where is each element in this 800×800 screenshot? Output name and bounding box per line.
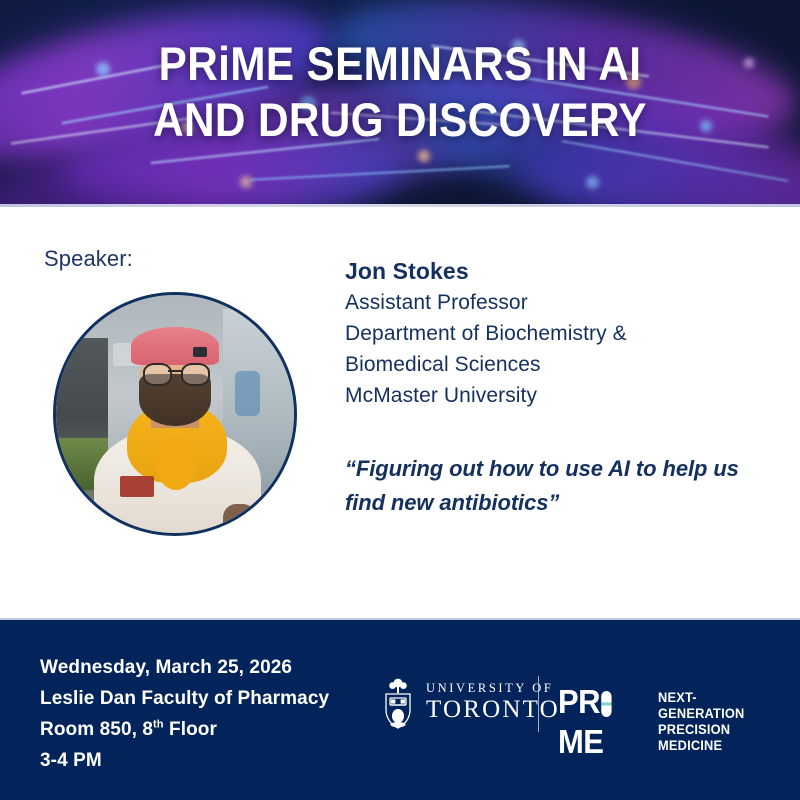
seminar-poster: PRiME SEMINARS IN AI AND DRUG DISCOVERY … [0, 0, 800, 800]
uoft-line-2: TORONTO [426, 696, 560, 724]
uoft-crest-icon [378, 676, 418, 732]
photo-glasses-left [143, 363, 172, 386]
photo-coat-logo [120, 476, 153, 497]
event-venue: Leslie Dan Faculty of Pharmacy [40, 683, 329, 714]
pill-icon [601, 691, 611, 717]
speaker-affiliation-line: McMaster University [345, 380, 775, 411]
event-time: 3-4 PM [40, 745, 329, 776]
page-title: PRiME SEMINARS IN AI AND DRUG DISCOVERY [40, 36, 760, 148]
prime-tagline-line-2: PRECISION MEDICINE [658, 722, 772, 754]
event-room-ordinal: th [153, 719, 164, 731]
photo-glasses-right [181, 363, 210, 386]
talk-title: “Figuring out how to use AI to help us f… [345, 452, 765, 520]
logo-divider [538, 676, 539, 732]
logo-lockup: UNIVERSITY OF TORONTO PRME NEXT-GENERATI… [378, 672, 778, 738]
prime-wordmark-pr: PR [558, 683, 600, 720]
prime-wordmark-me: ME [558, 723, 603, 760]
title-line-2: AND DRUG DISCOVERY [40, 92, 760, 148]
speaker-info: Jon Stokes Assistant Professor Departmen… [345, 255, 775, 411]
speaker-label: Speaker: [44, 246, 133, 272]
poster-body: Speaker: J [0, 207, 800, 620]
prime-wordmark: PRME [558, 682, 639, 762]
speaker-affiliation-line: Assistant Professor [345, 287, 775, 318]
photo-glasses-bridge [168, 370, 182, 372]
speaker-affiliation-line: Department of Biochemistry & [345, 318, 775, 349]
title-line-1: PRiME SEMINARS IN AI [40, 36, 760, 92]
event-room-prefix: Room 850, 8 [40, 719, 153, 740]
speaker-affiliation-line: Biomedical Sciences [345, 349, 775, 380]
event-details: Wednesday, March 25, 2026 Leslie Dan Fac… [40, 652, 329, 776]
prime-tagline: NEXT-GENERATION PRECISION MEDICINE [658, 690, 772, 754]
speaker-photo-image [56, 295, 294, 533]
photo-tattoo [223, 504, 256, 533]
photo-beanie [131, 327, 219, 365]
event-room: Room 850, 8th Floor [40, 714, 329, 745]
prime-logo: PRME NEXT-GENERATION PRECISION MEDICINE [558, 682, 778, 762]
footer-top-rule [0, 618, 800, 620]
prime-tagline-line-1: NEXT-GENERATION [658, 690, 772, 722]
poster-header: PRiME SEMINARS IN AI AND DRUG DISCOVERY [0, 0, 800, 207]
uoft-wordmark: UNIVERSITY OF TORONTO [426, 680, 560, 724]
event-date: Wednesday, March 25, 2026 [40, 652, 329, 683]
uoft-line-1: UNIVERSITY OF [426, 680, 560, 696]
speaker-name: Jon Stokes [345, 255, 775, 287]
event-room-rest: Floor [164, 719, 217, 740]
speaker-photo [53, 292, 297, 536]
